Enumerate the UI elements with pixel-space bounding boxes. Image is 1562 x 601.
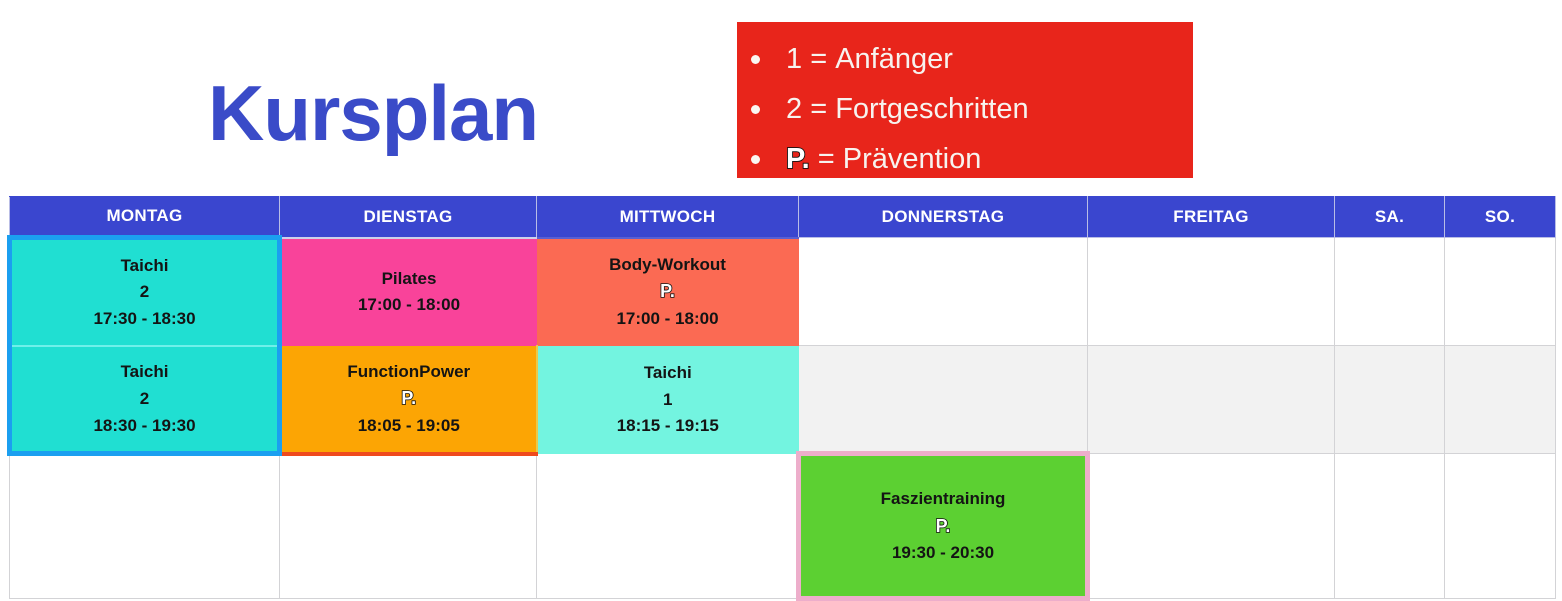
empty-cell-samstag-3[interactable] — [1335, 454, 1445, 599]
course-name: Taichi — [121, 362, 169, 382]
empty-cell-samstag-2[interactable] — [1335, 346, 1445, 454]
course-block: Taichi 2 18:30 - 19:30 — [12, 362, 277, 435]
prevention-mark-icon: P. — [936, 516, 951, 537]
column-header-samstag[interactable]: SA. — [1335, 197, 1445, 238]
empty-cell-samstag-1[interactable] — [1335, 238, 1445, 346]
schedule-table: MONTAG DIENSTAG MITTWOCH DONNERSTAG FREI… — [7, 196, 1556, 601]
course-time: 18:05 - 19:05 — [358, 416, 460, 436]
empty-cell-freitag-1[interactable] — [1088, 238, 1335, 346]
course-block: Taichi 1 18:15 - 19:15 — [538, 363, 799, 436]
course-block: Pilates 17:00 - 18:00 — [282, 269, 536, 315]
header-area: Kursplan 1 = Anfänger 2 = Fortgeschritte… — [0, 0, 1562, 196]
course-time: 19:30 - 20:30 — [892, 543, 994, 563]
course-cell-mittwoch-1[interactable]: Body-Workout P. 17:00 - 18:00 — [537, 238, 799, 346]
course-time: 17:30 - 18:30 — [93, 309, 195, 329]
empty-cell-donnerstag-1[interactable] — [799, 238, 1088, 346]
empty-cell-sonntag-1[interactable] — [1445, 238, 1556, 346]
course-time: 18:15 - 19:15 — [617, 416, 719, 436]
empty-cell-donnerstag-2[interactable] — [799, 346, 1088, 454]
course-level: 2 — [140, 282, 149, 302]
legend-item-fortgeschritten: 2 = Fortgeschritten — [751, 84, 1193, 134]
legend-separator: = — [810, 93, 827, 125]
course-name: Faszientraining — [881, 489, 1006, 509]
empty-cell-montag-3[interactable] — [10, 454, 280, 599]
legend-key: 2 — [786, 93, 802, 125]
column-header-donnerstag[interactable]: DONNERSTAG — [799, 197, 1088, 238]
legend-item-label: P. = Prävention — [786, 143, 981, 176]
course-block: Faszientraining P. 19:30 - 20:30 — [801, 489, 1085, 563]
bullet-icon — [751, 105, 760, 114]
prevention-mark-icon: P. — [401, 388, 416, 409]
legend-value: Anfänger — [835, 43, 953, 75]
course-cell-dienstag-2[interactable]: FunctionPower P. 18:05 - 19:05 — [280, 346, 537, 454]
course-time: 17:00 - 18:00 — [358, 295, 460, 315]
bullet-icon — [751, 155, 760, 164]
legend-key: 1 — [786, 43, 802, 75]
course-block: FunctionPower P. 18:05 - 19:05 — [282, 362, 536, 436]
course-cell-mittwoch-2[interactable]: Taichi 1 18:15 - 19:15 — [537, 346, 799, 454]
prevention-mark-icon: P. — [786, 143, 810, 176]
table-row: Taichi 2 17:30 - 18:30 Pilates 17:00 - 1… — [10, 238, 1556, 346]
legend-box: 1 = Anfänger 2 = Fortgeschritten P. = Pr… — [737, 22, 1193, 178]
table-header-row: MONTAG DIENSTAG MITTWOCH DONNERSTAG FREI… — [10, 197, 1556, 238]
empty-cell-freitag-3[interactable] — [1088, 454, 1335, 599]
legend-value: Prävention — [843, 143, 982, 175]
column-header-sonntag[interactable]: SO. — [1445, 197, 1556, 238]
course-cell-montag-1[interactable]: Taichi 2 17:30 - 18:30 — [10, 238, 280, 346]
course-block: Body-Workout P. 17:00 - 18:00 — [537, 255, 798, 329]
legend-item-label: 2 = Fortgeschritten — [786, 93, 1029, 126]
course-time: 17:00 - 18:00 — [616, 309, 718, 329]
legend-item-label: 1 = Anfänger — [786, 43, 953, 76]
course-name: FunctionPower — [347, 362, 470, 382]
course-time: 18:30 - 19:30 — [93, 416, 195, 436]
course-cell-montag-2[interactable]: Taichi 2 18:30 - 19:30 — [10, 346, 280, 454]
table-row: Taichi 2 18:30 - 19:30 FunctionPower P. … — [10, 346, 1556, 454]
page-title: Kursplan — [208, 74, 538, 152]
course-name: Taichi — [121, 256, 169, 276]
course-cell-donnerstag-3[interactable]: Faszientraining P. 19:30 - 20:30 — [799, 454, 1088, 599]
empty-cell-mittwoch-3[interactable] — [537, 454, 799, 599]
column-header-mittwoch[interactable]: MITTWOCH — [537, 197, 799, 238]
legend-item-praevention: P. = Prävention — [751, 134, 1193, 184]
column-header-freitag[interactable]: FREITAG — [1088, 197, 1335, 238]
prevention-mark-icon: P. — [660, 281, 675, 302]
course-block: Taichi 2 17:30 - 18:30 — [12, 256, 277, 329]
course-level: 2 — [140, 389, 149, 409]
table-row: Faszientraining P. 19:30 - 20:30 — [10, 454, 1556, 599]
bullet-icon — [751, 55, 760, 64]
course-name: Taichi — [644, 363, 692, 383]
course-name: Body-Workout — [609, 255, 726, 275]
empty-cell-sonntag-3[interactable] — [1445, 454, 1556, 599]
empty-cell-dienstag-3[interactable] — [280, 454, 537, 599]
legend-value: Fortgeschritten — [835, 93, 1028, 125]
legend-separator: = — [810, 43, 827, 75]
column-header-montag[interactable]: MONTAG — [10, 197, 280, 238]
course-level: 1 — [663, 390, 672, 410]
course-cell-dienstag-1[interactable]: Pilates 17:00 - 18:00 — [280, 238, 537, 346]
column-header-dienstag[interactable]: DIENSTAG — [280, 197, 537, 238]
empty-cell-sonntag-2[interactable] — [1445, 346, 1556, 454]
empty-cell-freitag-2[interactable] — [1088, 346, 1335, 454]
course-name: Pilates — [382, 269, 437, 289]
legend-separator: = — [818, 143, 835, 175]
legend-item-anfaenger: 1 = Anfänger — [751, 34, 1193, 84]
